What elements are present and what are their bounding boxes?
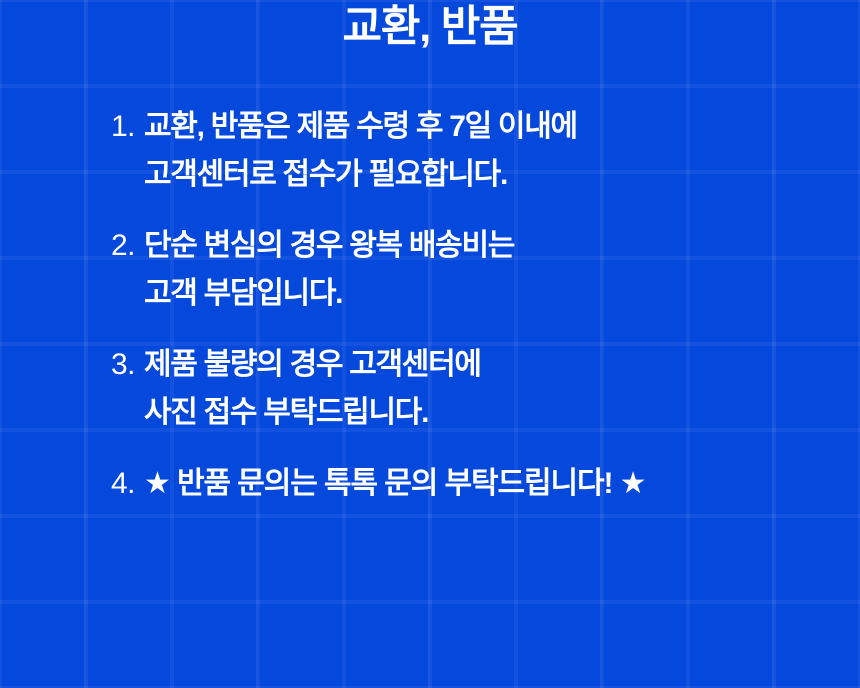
list-item-text: 단순 변심의 경우 왕복 배송비는 고객 부담입니다. [144,222,860,318]
list-item-number: 3. [0,341,144,389]
list-item-number: 4. [0,460,144,508]
list-item-number: 1. [0,103,144,151]
policy-list: 1. 교환, 반품은 제품 수령 후 7일 이내에 고객센터로 접수가 필요합니… [0,103,860,531]
list-item-line: 고객 부담입니다. [144,270,860,318]
list-item-line: 제품 불량의 경우 고객센터에 [144,341,860,389]
list-item-line: 고객센터로 접수가 필요합니다. [144,151,860,199]
list-item-line: 단순 변심의 경우 왕복 배송비는 [144,222,860,270]
list-item-line-emphasis: ★ 반품 문의는 톡톡 문의 부탁드립니다! ★ [144,460,860,508]
list-item-number: 2. [0,222,144,270]
notice-banner: 교환, 반품 1. 교환, 반품은 제품 수령 후 7일 이내에 고객센터로 접… [0,0,860,688]
list-item-text: 교환, 반품은 제품 수령 후 7일 이내에 고객센터로 접수가 필요합니다. [144,103,860,199]
list-item-text: ★ 반품 문의는 톡톡 문의 부탁드립니다! ★ [144,460,860,508]
list-item: 4. ★ 반품 문의는 톡톡 문의 부탁드립니다! ★ [0,460,860,508]
list-item-text: 제품 불량의 경우 고객센터에 사진 접수 부탁드립니다. [144,341,860,437]
list-item-line: 사진 접수 부탁드립니다. [144,389,860,437]
list-item: 1. 교환, 반품은 제품 수령 후 7일 이내에 고객센터로 접수가 필요합니… [0,103,860,199]
page-title: 교환, 반품 [0,3,860,51]
list-item-line: 교환, 반품은 제품 수령 후 7일 이내에 [144,103,860,151]
list-item: 2. 단순 변심의 경우 왕복 배송비는 고객 부담입니다. [0,222,860,318]
notice-content: 교환, 반품 1. 교환, 반품은 제품 수령 후 7일 이내에 고객센터로 접… [0,0,860,688]
list-item: 3. 제품 불량의 경우 고객센터에 사진 접수 부탁드립니다. [0,341,860,437]
